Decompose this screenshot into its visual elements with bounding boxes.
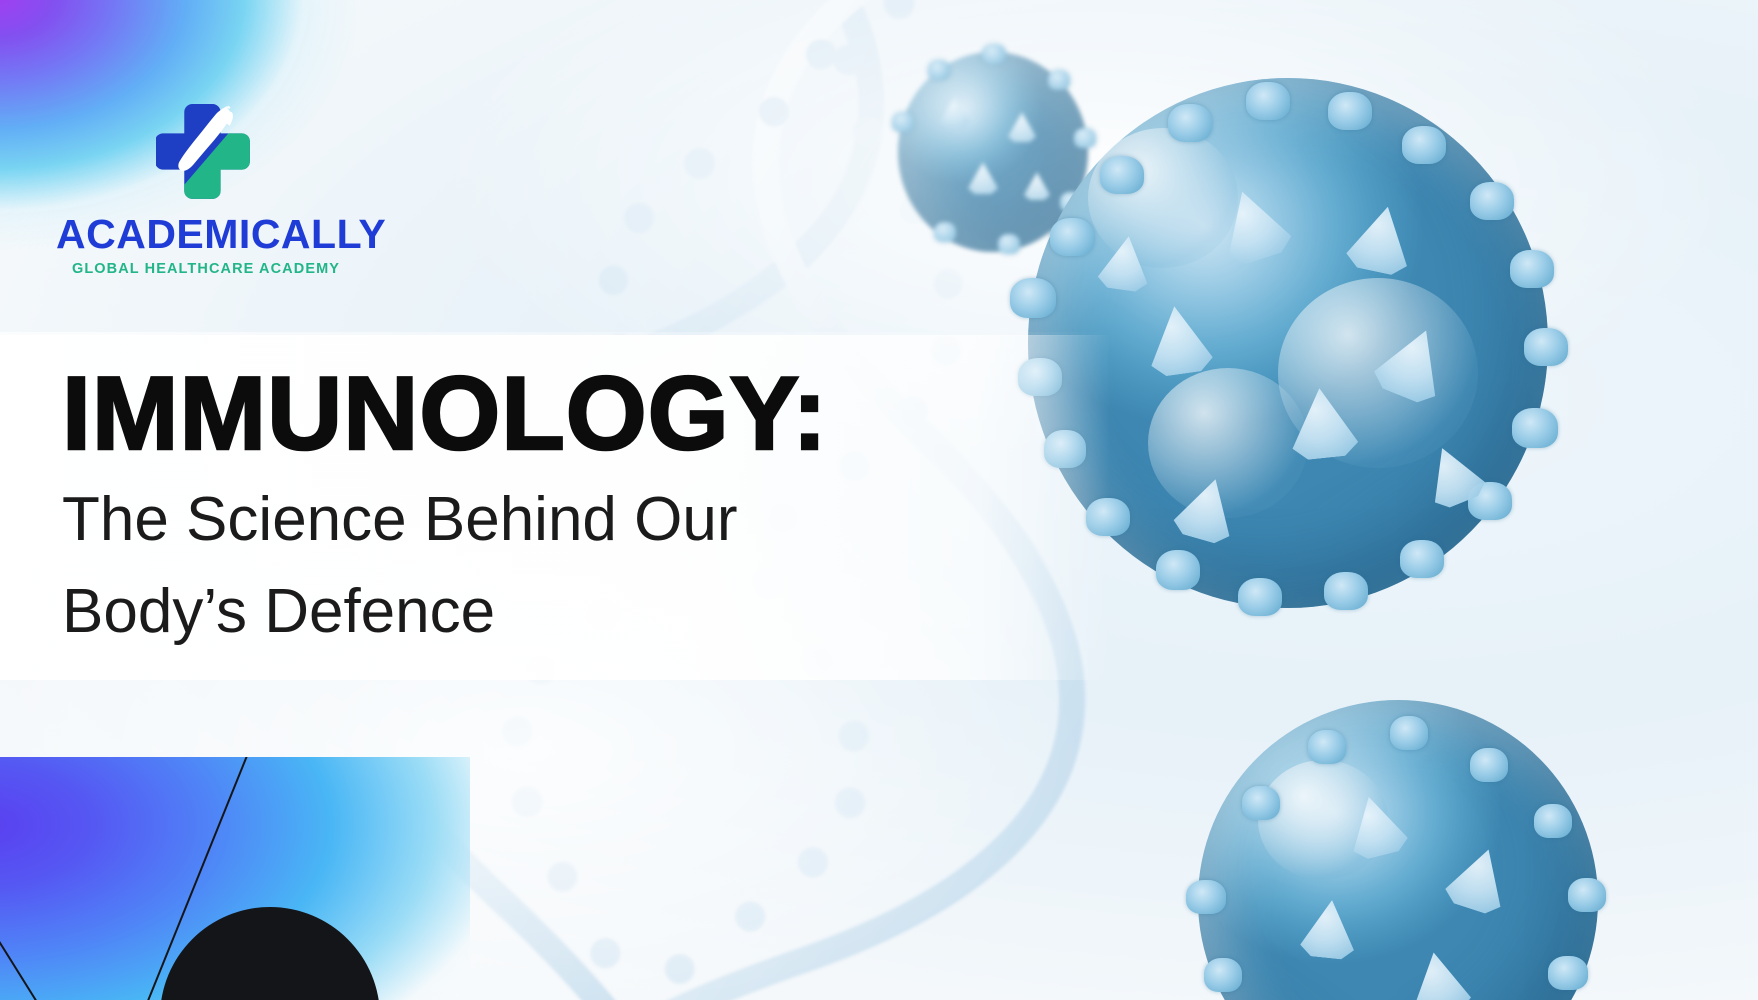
page-title: IMMUNOLOGY: bbox=[62, 360, 1062, 468]
immunology-poster: ACADEMICALLY GLOBAL HEALTHCARE ACADEMY I… bbox=[0, 0, 1758, 1000]
logo-wordmark: ACADEMICALLY bbox=[56, 214, 356, 255]
brand-logo[interactable]: ACADEMICALLY GLOBAL HEALTHCARE ACADEMY bbox=[56, 100, 356, 277]
subtitle-line-2: Body’s Defence bbox=[62, 572, 1062, 651]
title-block: IMMUNOLOGY: The Science Behind Our Body’… bbox=[62, 360, 1062, 651]
gradient-corner-bottom-left bbox=[0, 757, 470, 1000]
subtitle-line-1: The Science Behind Our bbox=[62, 480, 1062, 559]
logo-tagline: GLOBAL HEALTHCARE ACADEMY bbox=[56, 262, 356, 277]
medical-cross-hand-icon bbox=[56, 100, 356, 208]
